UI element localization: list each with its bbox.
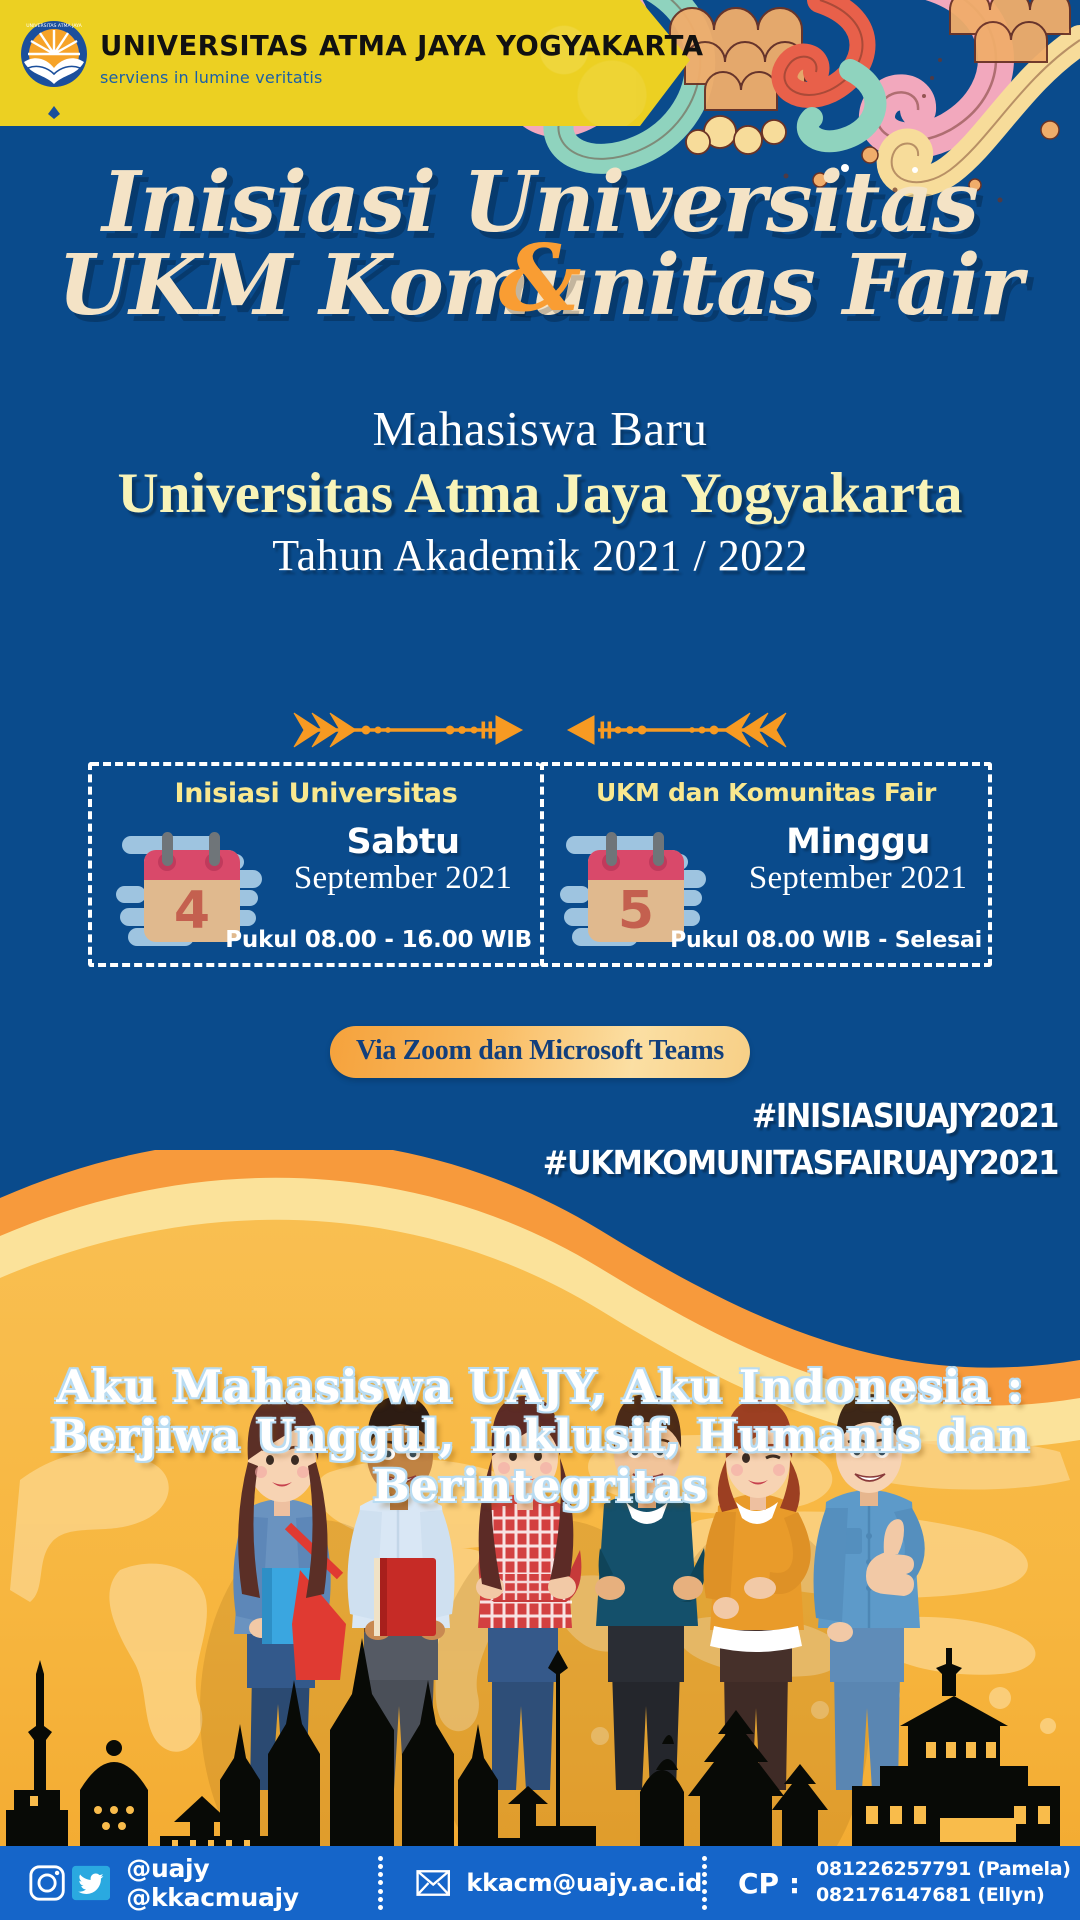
event-date-block: Sabtu September 2021 bbox=[274, 822, 532, 897]
email-address: kkacm@uajy.ac.id bbox=[466, 1869, 702, 1897]
university-motto: serviens in lumine veritatis bbox=[100, 68, 703, 87]
event-date: September 2021 bbox=[274, 860, 532, 897]
subtitle-line-1: Mahasiswa Baru bbox=[0, 400, 1080, 457]
poster-root: UNIVERSITAS ATMA JAYA UNIVERSITAS ATMA J… bbox=[0, 0, 1080, 1920]
event-day-name: Sabtu bbox=[274, 822, 532, 862]
event-day-name: Minggu bbox=[732, 822, 984, 862]
svg-text:UNIVERSITAS ATMA JAYA: UNIVERSITAS ATMA JAYA bbox=[26, 23, 82, 29]
university-name: UNIVERSITAS ATMA JAYA YOGYAKARTA bbox=[100, 30, 703, 62]
social-segment: @uajy @kkacmuajy bbox=[0, 1846, 378, 1920]
subtitle-line-2: Universitas Atma Jaya Yogyakarta bbox=[0, 461, 1080, 526]
subtitle-group: Mahasiswa Baru Universitas Atma Jaya Yog… bbox=[0, 400, 1080, 581]
email-segment: kkacm@uajy.ac.id bbox=[384, 1846, 702, 1920]
tagline-line-1: Aku Mahasiswa UAJY, Aku Indonesia : bbox=[0, 1362, 1080, 1412]
event-date: September 2021 bbox=[732, 860, 984, 897]
event-date-block: Minggu September 2021 bbox=[732, 822, 984, 897]
phone-2: 082176147681 (Ellyn) bbox=[816, 1883, 1071, 1909]
brand-block: UNIVERSITAS ATMA JAYA YOGYAKARTA servien… bbox=[100, 30, 703, 87]
event-time: Pukul 08.00 - 16.00 WIB bbox=[92, 927, 532, 953]
subtitle-line-3: Tahun Akademik 2021 / 2022 bbox=[0, 530, 1080, 581]
contact-segment: CP : 081226257791 (Pamela) 082176147681 … bbox=[708, 1846, 1080, 1920]
headline-ampersand: & bbox=[498, 232, 581, 324]
social-handles: @uajy @kkacmuajy bbox=[126, 1854, 378, 1912]
footer-bar: @uajy @kkacmuajy kkacm@uajy.ac.id CP : 0… bbox=[0, 1846, 1080, 1920]
tagline-line-2: Berjiwa Unggul, Inklusif, Humanis dan Be… bbox=[0, 1412, 1080, 1511]
arrow-left-decorative-icon bbox=[540, 707, 790, 753]
event-time: Pukul 08.00 WIB - Selesai bbox=[544, 928, 982, 953]
arrow-divider bbox=[0, 700, 1080, 760]
twitter-icon[interactable] bbox=[72, 1863, 110, 1903]
envelope-icon[interactable] bbox=[416, 1866, 450, 1900]
phone-list: 081226257791 (Pamela) 082176147681 (Elly… bbox=[816, 1857, 1071, 1908]
event-card-ukm: UKM dan Komunitas Fair 5 bbox=[540, 762, 992, 967]
hashtag-1: #INISIASIUAJY2021 bbox=[543, 1096, 1058, 1135]
event-title: Inisiasi Universitas bbox=[92, 778, 540, 809]
instagram-icon[interactable] bbox=[28, 1863, 66, 1903]
event-title: UKM dan Komunitas Fair bbox=[544, 778, 988, 807]
headline: Inisiasi Universitas UKM Komunitas Fair … bbox=[0, 160, 1080, 329]
event-boxes: Inisiasi Universitas 4 bbox=[88, 762, 992, 967]
tagline: Aku Mahasiswa UAJY, Aku Indonesia : Berj… bbox=[0, 1362, 1080, 1511]
students-group-illustration bbox=[0, 1150, 1080, 1890]
event-card-inisiasi: Inisiasi Universitas 4 bbox=[88, 762, 540, 967]
phone-1: 081226257791 (Pamela) bbox=[816, 1857, 1071, 1883]
platform-badge: Via Zoom dan Microsoft Teams bbox=[330, 1026, 750, 1078]
uajy-logo-icon: UNIVERSITAS ATMA JAYA bbox=[18, 14, 90, 119]
cp-label: CP : bbox=[738, 1867, 800, 1900]
